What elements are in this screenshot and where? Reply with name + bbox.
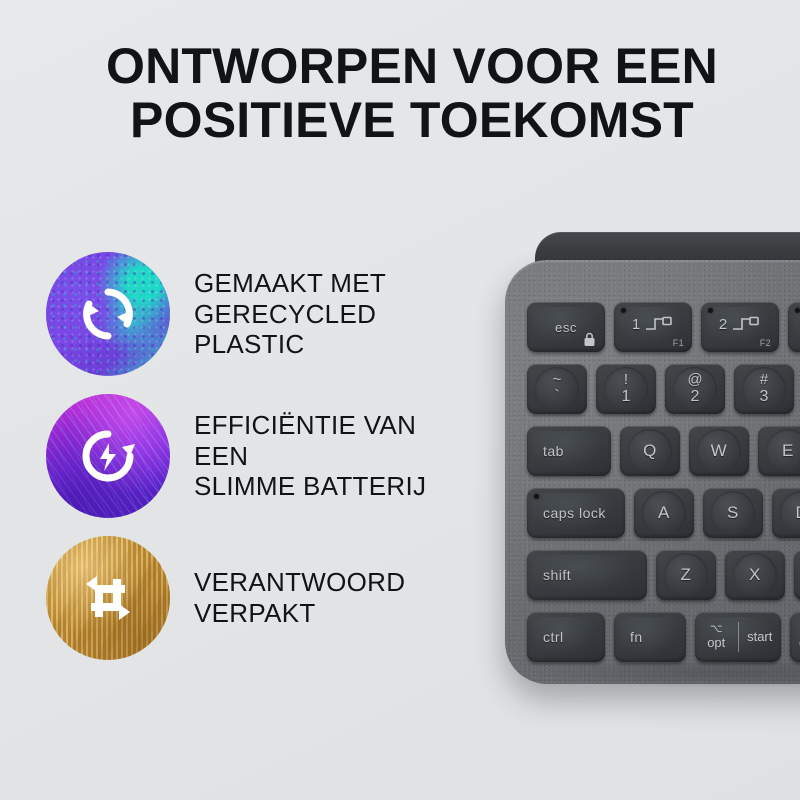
page-title: ONTWORPEN VOOR EEN POSITIEVE TOEKOMST	[62, 40, 762, 147]
key-shift[interactable]: shift	[527, 550, 647, 600]
key-cmd-alt[interactable]: ⌘ cmd alt	[790, 612, 800, 662]
key-label-bottom: 3	[734, 388, 794, 406]
key-e[interactable]: E	[758, 426, 800, 476]
recycle-circle-badge	[46, 252, 170, 376]
feature-item-responsible-packaging: VERANTWOORD VERPAKT	[46, 536, 476, 660]
device-switch-icon	[731, 315, 761, 333]
key-x[interactable]: X	[725, 550, 785, 600]
key-caps-lock[interactable]: caps lock	[527, 488, 625, 538]
key-f2[interactable]: 2 F2	[701, 302, 779, 352]
key-label: X	[725, 565, 785, 585]
key-label-top: ~	[527, 372, 587, 389]
led-indicator-icon	[708, 308, 713, 313]
key-label-bottom: 1	[596, 388, 656, 406]
key-label-top: !	[596, 372, 656, 389]
headline-line-2: POSITIEVE TOEKOMST	[62, 94, 762, 148]
led-indicator-icon	[534, 494, 539, 499]
keyboard-product-image: esc 1 F1	[505, 232, 800, 692]
keyboard-deck: esc 1 F1	[505, 260, 800, 684]
key-label: cmd	[790, 636, 800, 650]
recycle-box-icon	[73, 563, 143, 633]
key-alt-label: start	[738, 630, 781, 644]
key-label: ctrl	[527, 629, 605, 645]
key-label: tab	[527, 443, 611, 459]
key-tab[interactable]: tab	[527, 426, 611, 476]
key-d[interactable]: D	[772, 488, 800, 538]
key-1[interactable]: ! 1	[596, 364, 656, 414]
lock-icon	[583, 332, 596, 347]
feature-label-smart-battery: EFFICIËNTIE VAN EEN SLIMME BATTERIJ	[194, 410, 476, 502]
key-label: caps lock	[527, 505, 625, 521]
device-switch-icon	[644, 315, 674, 333]
battery-badge	[46, 394, 170, 518]
bolt-glyph	[100, 443, 116, 471]
key-label-top: @	[665, 372, 725, 389]
key-label: D	[772, 503, 800, 523]
feature-item-recycled-plastic: GEMAAKT MET GERECYCLED PLASTIC	[46, 252, 476, 376]
key-backtick[interactable]: ~ `	[527, 364, 587, 414]
key-f1[interactable]: 1 F1	[614, 302, 692, 352]
key-label: C	[794, 565, 800, 585]
promo-banner: ONTWORPEN VOOR EEN POSITIEVE TOEKOMST GE…	[0, 0, 800, 800]
key-w[interactable]: W	[689, 426, 749, 476]
keyboard-row-number: ~ ` ! 1 @ 2	[527, 364, 800, 414]
key-label: 2	[719, 316, 727, 333]
key-label-bottom: `	[527, 388, 587, 406]
key-s[interactable]: S	[703, 488, 763, 538]
key-label: Q	[620, 441, 680, 461]
key-label: S	[703, 503, 763, 523]
recycle-circle-icon	[72, 278, 144, 350]
keyboard-row-home: caps lock A S D F	[527, 488, 800, 538]
key-label: Z	[656, 565, 716, 585]
feature-list: GEMAAKT MET GERECYCLED PLASTIC EFFICIËNT…	[46, 252, 476, 660]
key-label-top: #	[734, 372, 794, 389]
battery-refresh-bolt-icon	[73, 421, 143, 491]
key-a[interactable]: A	[634, 488, 694, 538]
key-label: fn	[614, 629, 686, 645]
key-label: shift	[527, 567, 647, 583]
feature-item-smart-battery: EFFICIËNTIE VAN EEN SLIMME BATTERIJ	[46, 394, 476, 518]
key-label: A	[634, 503, 694, 523]
key-label: 1	[632, 316, 640, 333]
key-label: E	[758, 441, 800, 461]
key-c[interactable]: C	[794, 550, 800, 600]
arrow-head	[122, 444, 135, 456]
key-fn[interactable]: fn	[614, 612, 686, 662]
key-q[interactable]: Q	[620, 426, 680, 476]
keyboard-row-qwerty: tab Q W E R T	[527, 426, 800, 476]
keyboard-row-function: esc 1 F1	[527, 302, 800, 352]
keyboard-row-bottom: ctrl fn ⌥ opt start	[527, 612, 800, 662]
key-label: W	[689, 441, 749, 461]
packaging-badge	[46, 536, 170, 660]
key-f3[interactable]: 3 F3	[788, 302, 800, 352]
key-esc[interactable]: esc	[527, 302, 605, 352]
led-indicator-icon	[621, 308, 626, 313]
key-label-bottom: 2	[665, 388, 725, 406]
feature-label-recycled-plastic: GEMAAKT MET GERECYCLED PLASTIC	[194, 268, 386, 360]
key-ctrl[interactable]: ctrl	[527, 612, 605, 662]
key-3[interactable]: # 3	[734, 364, 794, 414]
keyboard-row-shift: shift Z X C	[527, 550, 800, 600]
key-fn-label: F2	[760, 338, 771, 348]
key-opt-start[interactable]: ⌥ opt start	[695, 612, 781, 662]
key-z[interactable]: Z	[656, 550, 716, 600]
headline-line-1: ONTWORPEN VOOR EEN	[62, 40, 762, 94]
feature-label-responsible-packaging: VERANTWOORD VERPAKT	[194, 567, 405, 628]
led-indicator-icon	[795, 308, 800, 313]
key-fn-label: F1	[673, 338, 684, 348]
key-label: opt	[695, 636, 738, 650]
key-2[interactable]: @ 2	[665, 364, 725, 414]
